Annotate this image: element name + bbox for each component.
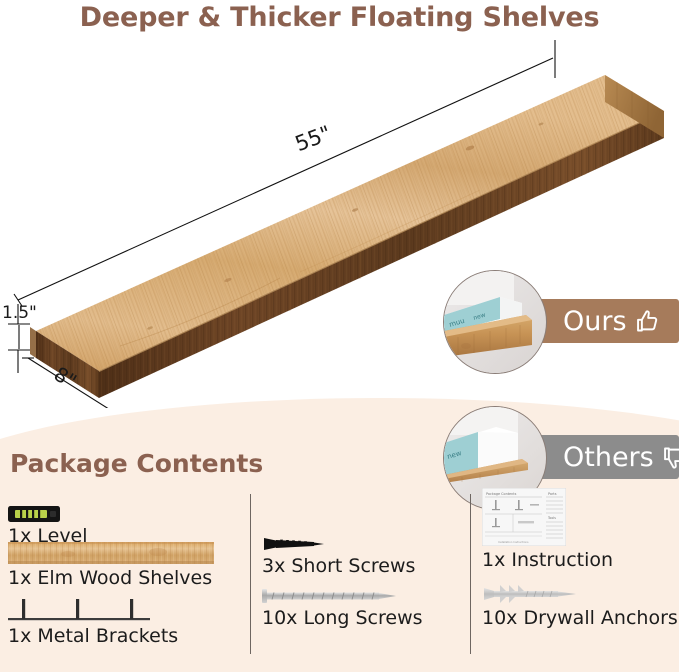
comparison-label-others: Others — [563, 444, 654, 471]
package-item-level: 1x Level — [8, 488, 240, 532]
comparison-label-ours: Ours — [563, 308, 627, 335]
package-label-brackets: 1x Metal Brackets — [8, 626, 240, 647]
package-label-anchors: 10x Drywall Anchors — [482, 608, 679, 629]
drywall-anchor-icon — [482, 576, 679, 606]
comparison-photo-ours: muu new — [443, 270, 547, 374]
package-label-short-screws: 3x Short Screws — [262, 556, 482, 577]
package-column-2: 3x Short Screws — [250, 488, 482, 664]
shelf-left-end-face — [30, 327, 36, 358]
package-label-shelves: 1x Elm Wood Shelves — [8, 568, 240, 589]
instruction-manual-icon: Package Contents Parts — [482, 488, 679, 548]
page-title: Deeper & Thicker Floating Shelves — [0, 2, 679, 33]
package-column-3: Package Contents Parts — [470, 488, 679, 664]
package-column-1: 1x Level — [8, 488, 240, 664]
spirit-level-icon — [8, 488, 240, 524]
thumbs-up-icon — [634, 308, 661, 335]
shelf-illustration — [0, 28, 679, 408]
metal-bracket-icon — [8, 592, 240, 624]
short-screw-icon — [262, 528, 482, 554]
svg-text:Parts: Parts — [548, 492, 557, 496]
dimension-label-thickness: 1.5" — [2, 303, 37, 323]
svg-text:Package Contents: Package Contents — [486, 492, 517, 496]
package-item-brackets: 1x Metal Brackets — [8, 592, 240, 652]
package-item-long-screws: 10x Long Screws — [262, 576, 482, 636]
package-label-long-screws: 10x Long Screws — [262, 608, 482, 629]
infographic-canvas: Deeper & Thicker Floating Shelves — [0, 0, 679, 672]
thumbs-down-icon — [661, 444, 679, 471]
shelf-long-side-edge — [99, 111, 664, 398]
long-screw-icon — [262, 576, 482, 606]
package-contents-heading: Package Contents — [10, 449, 263, 478]
package-label-instruction: 1x Instruction — [482, 550, 679, 571]
package-item-instruction: Package Contents Parts — [482, 488, 679, 576]
package-item-shelves: 1x Elm Wood Shelves — [8, 532, 240, 592]
package-contents-grid: 1x Level — [8, 488, 676, 664]
package-item-short-screws: 3x Short Screws — [262, 488, 482, 576]
package-item-anchors: 10x Drywall Anchors — [482, 576, 679, 636]
svg-text:Tools: Tools — [547, 516, 556, 520]
svg-text:Installation Instructions: Installation Instructions — [498, 540, 529, 544]
wood-plank-icon — [8, 532, 240, 566]
